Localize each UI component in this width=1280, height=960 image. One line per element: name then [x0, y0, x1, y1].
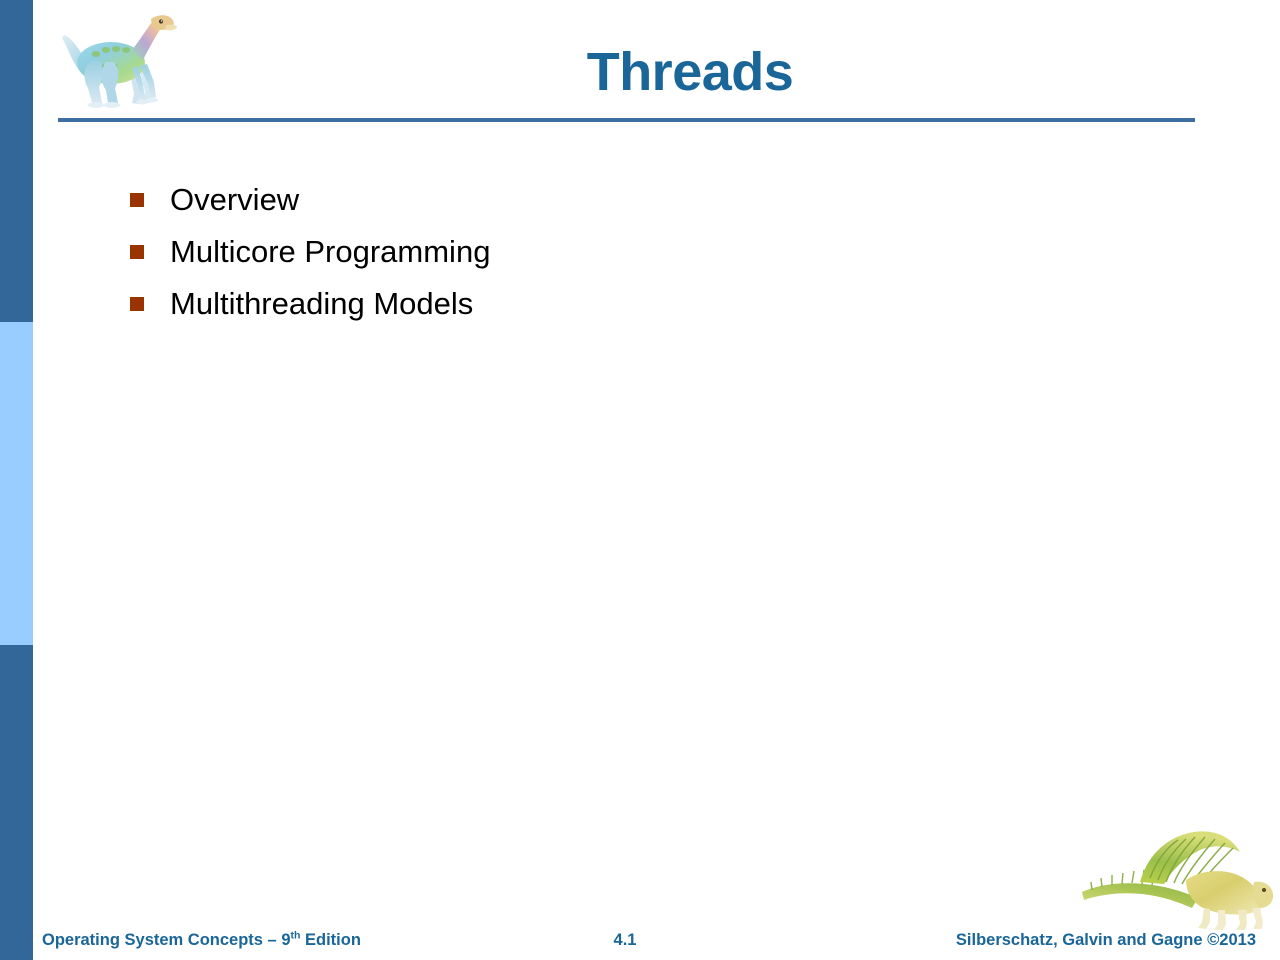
- sidebar-band-middle: [0, 322, 33, 645]
- list-item[interactable]: Overview: [130, 180, 1130, 232]
- dinosaur-dimetrodon-icon: [1078, 826, 1274, 932]
- footer-edition-post: Edition: [300, 931, 361, 949]
- list-item-label: Multithreading Models: [170, 284, 473, 324]
- footer-edition-pre: Operating System Concepts – 9: [42, 931, 291, 949]
- slide-sidebar: [0, 0, 33, 960]
- square-bullet-icon: [130, 193, 144, 207]
- square-bullet-icon: [130, 297, 144, 311]
- title-divider: [58, 118, 1195, 122]
- footer-edition-label: Operating System Concepts – 9th Edition: [42, 931, 361, 950]
- slide-number: 4.1: [560, 931, 690, 950]
- list-item-label: Multicore Programming: [170, 232, 490, 272]
- footer-copyright: Silberschatz, Galvin and Gagne ©2013: [956, 931, 1256, 950]
- sidebar-band-top: [0, 0, 33, 322]
- dinosaur-plateosaurus-icon: [48, 8, 178, 113]
- footer-edition-ordinal: th: [291, 930, 301, 942]
- bullet-list: Overview Multicore Programming Multithre…: [130, 180, 1130, 336]
- page-title: Threads: [190, 44, 1190, 101]
- square-bullet-icon: [130, 245, 144, 259]
- list-item[interactable]: Multithreading Models: [130, 284, 1130, 336]
- list-item-label: Overview: [170, 180, 299, 220]
- sidebar-band-bottom: [0, 645, 33, 960]
- list-item[interactable]: Multicore Programming: [130, 232, 1130, 284]
